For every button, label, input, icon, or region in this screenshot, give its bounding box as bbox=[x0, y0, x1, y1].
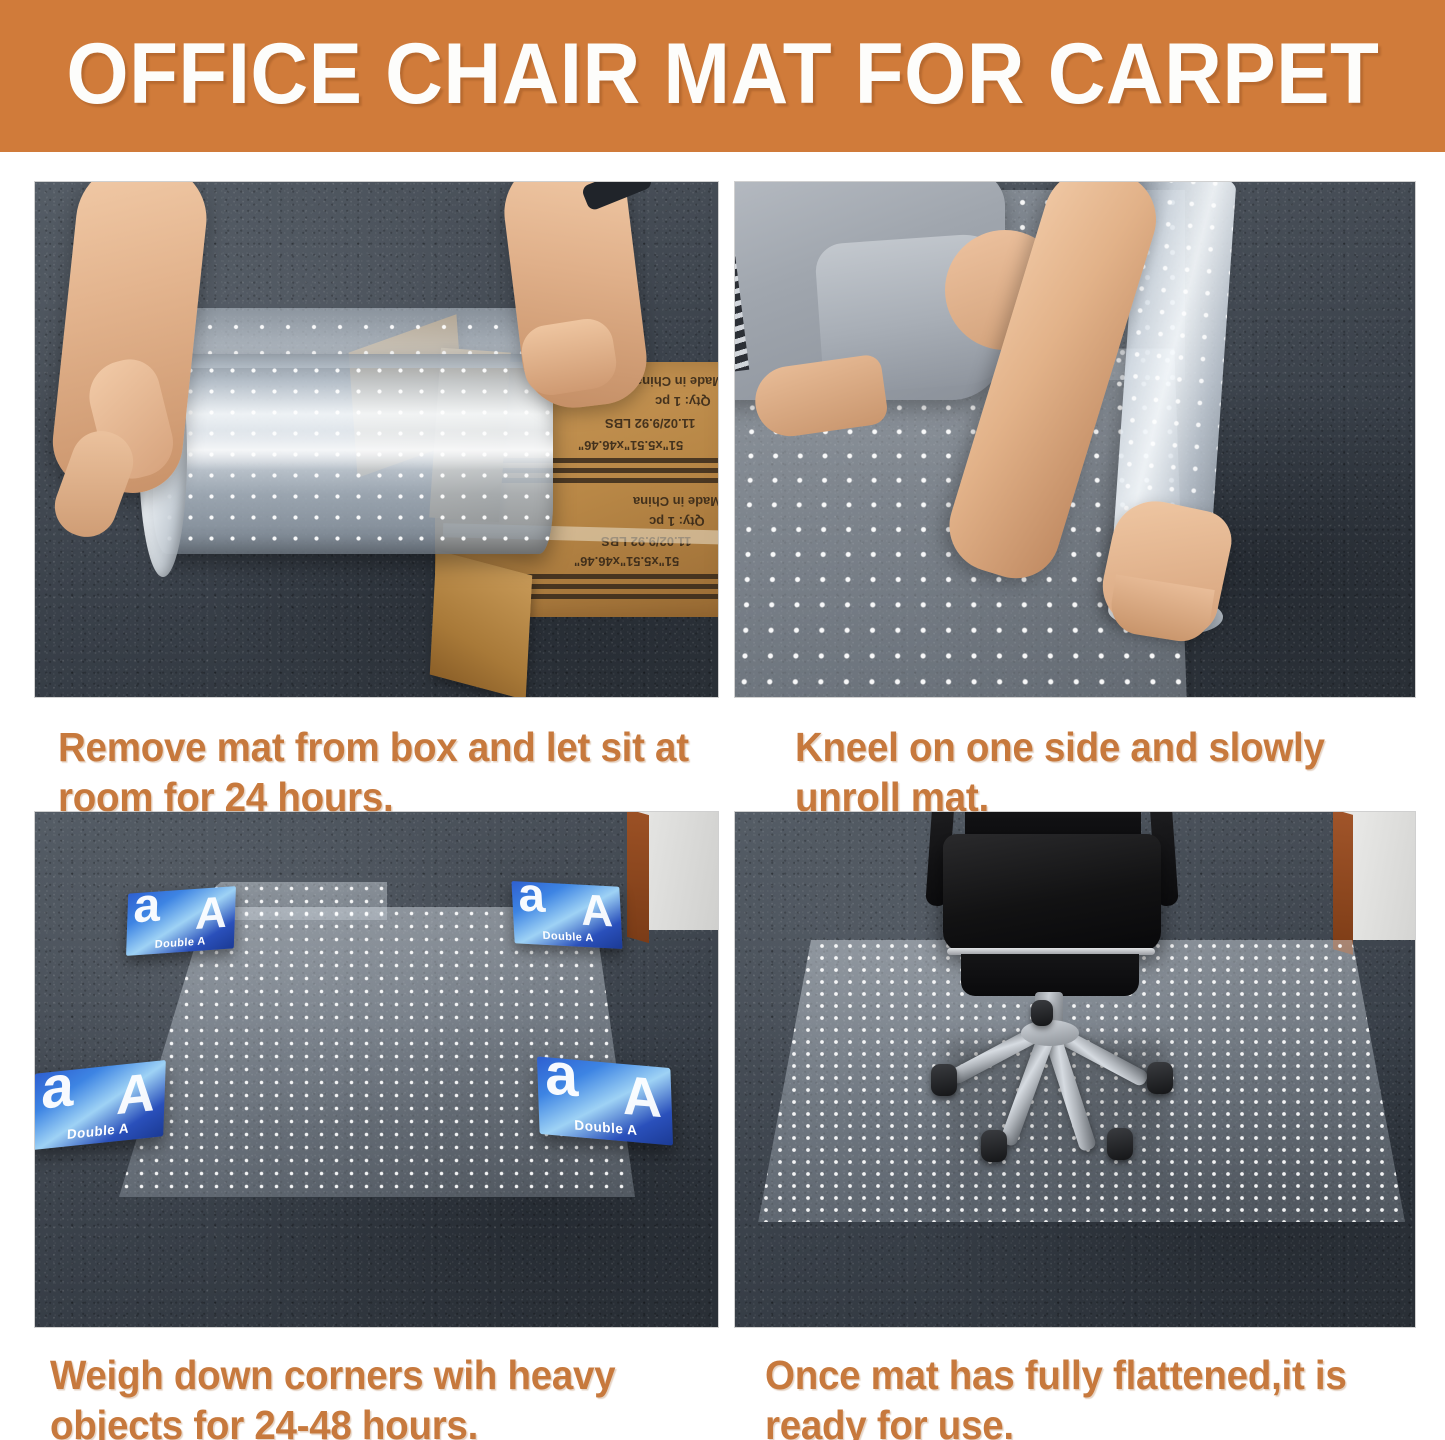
chair-caster bbox=[931, 1064, 957, 1096]
ream-glyph-uppercase-a: A bbox=[116, 1066, 156, 1124]
box-label-dimensions: 51"x5.51"x46.46" bbox=[578, 438, 683, 453]
paper-ream-top-right: a A Double A bbox=[511, 881, 622, 949]
box-flap-bottom bbox=[430, 550, 532, 697]
chair-caster bbox=[1031, 1000, 1053, 1026]
box-label-origin: Made in China bbox=[635, 374, 718, 389]
ream-glyph-uppercase-a: A bbox=[195, 891, 228, 937]
shorts-side-tape bbox=[735, 201, 749, 373]
ream-glyph-lowercase-a: a bbox=[133, 886, 161, 931]
step-1-photo-cell: Made in China Qty: 1 pc 11.02/9.92 LBS 5… bbox=[35, 182, 718, 697]
ream-glyph-lowercase-a: a bbox=[544, 1056, 579, 1107]
infographic-root: OFFICE CHAIR MAT FOR CARPET Made in Chin… bbox=[0, 0, 1445, 1440]
ream-glyph-uppercase-a: A bbox=[580, 889, 614, 935]
header-banner: OFFICE CHAIR MAT FOR CARPET bbox=[0, 0, 1445, 152]
step-2-photo bbox=[735, 182, 1415, 697]
step-2-caption: Kneel on one side and slowly unroll mat. bbox=[795, 722, 1415, 822]
step-4-photo bbox=[735, 812, 1415, 1327]
mat-roll bbox=[153, 354, 553, 554]
paper-ream-top-left: a A Double A bbox=[126, 886, 236, 956]
step-2-photo-cell bbox=[735, 182, 1415, 697]
step-4-photo-cell bbox=[735, 812, 1415, 1327]
chair-caster bbox=[1147, 1062, 1173, 1094]
box-label-weight: 11.02/9.92 LBS bbox=[605, 416, 695, 431]
step-1-caption: Remove mat from box and let sit at room … bbox=[58, 722, 716, 822]
paper-ream-bottom-right: a A Double A bbox=[537, 1056, 673, 1145]
chair-seat-underside bbox=[961, 954, 1139, 996]
baseboard bbox=[1333, 812, 1353, 955]
step-4-caption: Once mat has fully flattened,it is ready… bbox=[765, 1350, 1423, 1440]
box-label-origin-2: Made in China bbox=[633, 494, 718, 509]
chair-base-hub bbox=[1021, 1020, 1079, 1046]
steps-grid: Made in China Qty: 1 pc 11.02/9.92 LBS 5… bbox=[0, 152, 1445, 1440]
page-title: OFFICE CHAIR MAT FOR CARPET bbox=[66, 31, 1379, 121]
box-label-dimensions-2: 51"x5.51"x46.46" bbox=[574, 554, 679, 569]
step-3-caption: Weigh down corners wih heavy objects for… bbox=[50, 1350, 717, 1440]
box-label-qty: Qty: 1 pc bbox=[655, 394, 711, 409]
paper-ream-bottom-left: a A Double A bbox=[35, 1060, 166, 1150]
ream-glyph-uppercase-a: A bbox=[621, 1069, 662, 1127]
chair-caster bbox=[1107, 1128, 1133, 1160]
box-label-qty-2: Qty: 1 pc bbox=[649, 514, 705, 529]
step-3-photo-cell: a A Double A a A Double A a A Double A a… bbox=[35, 812, 718, 1327]
ream-glyph-lowercase-a: a bbox=[517, 881, 546, 921]
step-3-photo: a A Double A a A Double A a A Double A a… bbox=[35, 812, 718, 1327]
baseboard bbox=[627, 812, 649, 943]
chair-caster bbox=[981, 1130, 1007, 1162]
chair-seat bbox=[943, 834, 1161, 952]
step-1-photo: Made in China Qty: 1 pc 11.02/9.92 LBS 5… bbox=[35, 182, 718, 697]
